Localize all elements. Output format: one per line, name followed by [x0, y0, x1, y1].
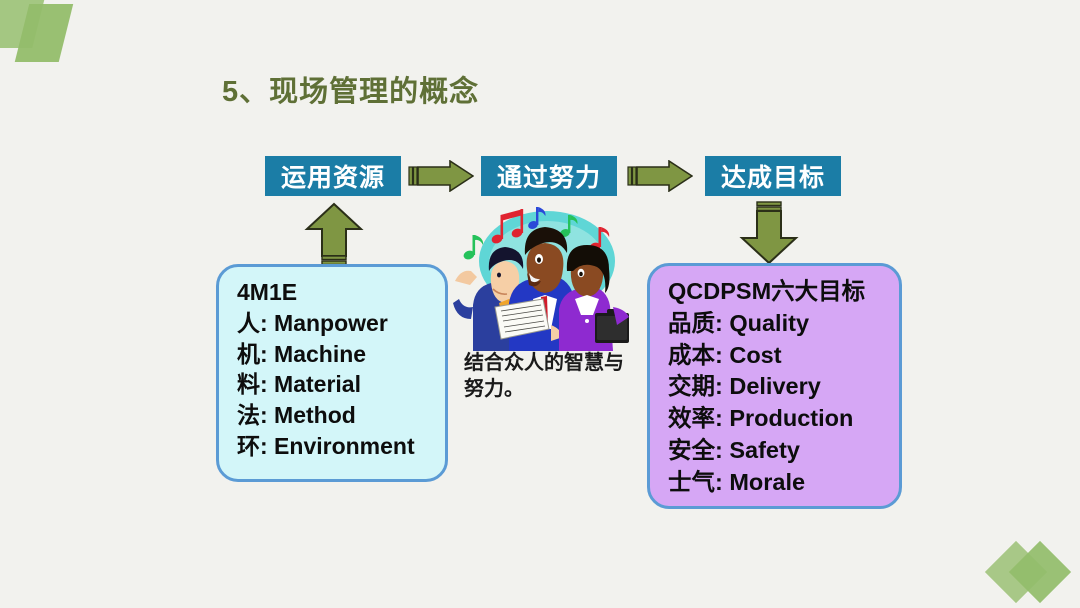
up-arrow-icon	[304, 202, 364, 266]
slide-canvas: 5、现场管理的概念 运用资源 通过努力 达成目标	[0, 0, 1080, 608]
goals-box: QCDPSM六大目标 品质: Quality 成本: Cost 交期: Deli…	[647, 263, 902, 509]
left-box-line-material: 料: Material	[237, 369, 431, 400]
right-box-line-morale: 士气: Morale	[668, 467, 885, 499]
input-factors-box: 4M1E 人: Manpower 机: Machine 料: Material …	[216, 264, 448, 482]
left-box-line-manpower: 人: Manpower	[237, 308, 431, 339]
left-box-line-environment: 环: Environment	[237, 431, 431, 462]
right-box-line-cost: 成本: Cost	[668, 340, 885, 372]
left-box-line-method: 法: Method	[237, 400, 431, 431]
right-box-heading: QCDPSM六大目标	[668, 276, 885, 308]
left-box-heading: 4M1E	[237, 277, 431, 308]
right-arrow-icon	[408, 160, 474, 192]
right-box-line-safety: 安全: Safety	[668, 435, 885, 467]
down-arrow-icon	[739, 201, 799, 265]
illustration-caption: 结合众人的智慧与努力。	[464, 350, 634, 403]
three-people-singing-illustration	[447, 203, 643, 351]
right-box-line-production: 效率: Production	[668, 403, 885, 435]
flow-step-achieve-goals: 达成目标	[705, 156, 841, 196]
flow-step-through-effort: 通过努力	[481, 156, 617, 196]
right-box-line-quality: 品质: Quality	[668, 308, 885, 340]
right-arrow-icon	[627, 160, 693, 192]
right-box-line-delivery: 交期: Delivery	[668, 371, 885, 403]
page-title: 5、现场管理的概念	[222, 68, 479, 110]
flow-step-use-resources: 运用资源	[265, 156, 401, 196]
left-box-line-machine: 机: Machine	[237, 339, 431, 370]
